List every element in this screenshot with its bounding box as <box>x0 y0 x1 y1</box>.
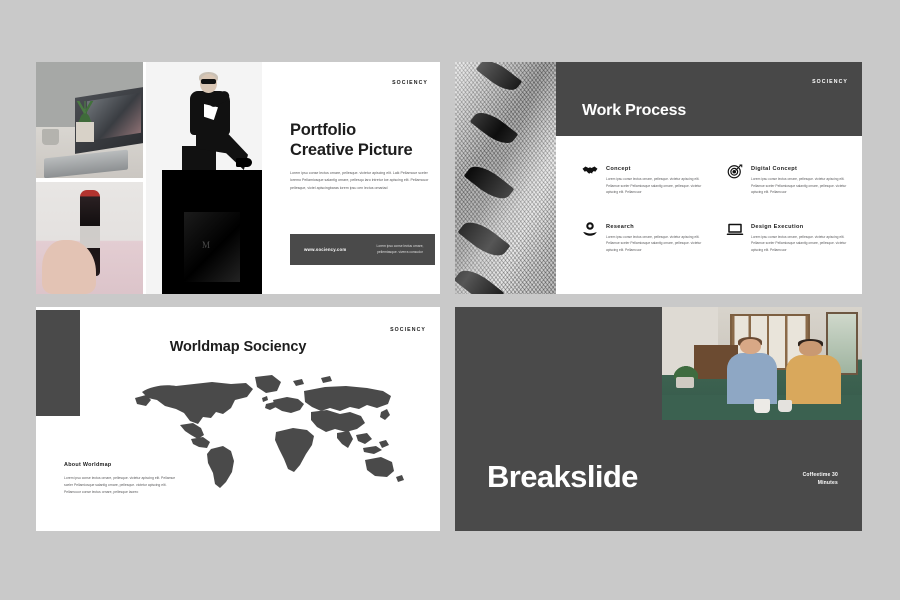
target-icon <box>725 162 745 180</box>
slide1-body-text: Lorem ipsu conse lectus ornare, pellesqu… <box>290 170 433 192</box>
photo-desk-laptop <box>36 62 143 178</box>
process-item-body: Lorem ipsu conse lectus ornare, pellesqu… <box>751 176 848 196</box>
process-item-label: Digital Concept <box>751 162 848 172</box>
slide4-title: Breakslide <box>487 459 638 495</box>
slide4-coffeetime-note: Coffeetime 30 Minutes <box>766 471 838 487</box>
slide1-content-panel: SOCIENCY Portfolio Creative Picture Lore… <box>266 62 440 294</box>
website-url[interactable]: www.sociency.com <box>304 247 346 252</box>
photo-two-men-coffee <box>662 307 862 420</box>
handshake-icon <box>580 162 600 180</box>
process-item-digital-concept[interactable]: Digital Concept Lorem ipsu conse lectus … <box>725 162 848 196</box>
photo-model-on-stool: M <box>146 62 262 294</box>
photo-metallic-texture <box>455 62 556 294</box>
about-worldmap-body: Lorem ipsu conse lectus ornare, pellesqu… <box>64 475 184 497</box>
world-map-graphic <box>128 369 408 491</box>
coffeetime-line1: Coffeetime 30 <box>766 471 838 479</box>
slide-work-process[interactable]: SOCIENCY Work Process Concept Lorem ipsu… <box>455 62 862 294</box>
slide1-title: Portfolio Creative Picture <box>290 120 440 160</box>
coffeetime-line2: Minutes <box>766 479 838 487</box>
website-bar-text: Lorem ipsu conse lectus ornare, pellemta… <box>372 243 428 255</box>
slide2-title: Work Process <box>582 102 686 120</box>
brand-logo: SOCIENCY <box>812 79 848 85</box>
slide1-website-bar[interactable]: www.sociency.com Lorem ipsu conse lectus… <box>290 234 435 265</box>
process-item-body: Lorem ipsu conse lectus ornare, pellesqu… <box>751 234 848 254</box>
slide-portfolio-creative-picture[interactable]: M SOCIENCY Portfolio Creative Picture Lo… <box>36 62 440 294</box>
process-item-research[interactable]: Research Lorem ipsu conse lectus ornare,… <box>580 220 703 254</box>
research-hand-icon <box>580 220 600 238</box>
brand-logo: SOCIENCY <box>392 80 428 86</box>
slide2-body: Concept Lorem ipsu conse lectus ornare, … <box>556 136 862 294</box>
slide-worldmap-sociency[interactable]: SOCIENCY Worldmap Sociency <box>36 307 440 531</box>
process-item-design-execution[interactable]: Design Execution Lorem ipsu conse lectus… <box>725 220 848 254</box>
presentation-preview-canvas: M SOCIENCY Portfolio Creative Picture Lo… <box>0 0 900 600</box>
slide1-title-line1: Portfolio <box>290 120 440 140</box>
work-process-grid: Concept Lorem ipsu conse lectus ornare, … <box>580 162 848 254</box>
process-item-label: Concept <box>606 162 703 172</box>
photo-hand-bottle <box>36 182 143 294</box>
process-item-label: Research <box>606 220 703 230</box>
laptop-icon <box>725 220 745 238</box>
photo-monogram: M <box>202 240 211 250</box>
process-item-concept[interactable]: Concept Lorem ipsu conse lectus ornare, … <box>580 162 703 196</box>
brand-logo: SOCIENCY <box>390 327 426 333</box>
process-item-body: Lorem ipsu conse lectus ornare, pellesqu… <box>606 234 703 254</box>
process-item-label: Design Execution <box>751 220 848 230</box>
slide1-title-line2: Creative Picture <box>290 140 440 160</box>
decorative-dark-rectangle <box>36 310 80 416</box>
slide2-header: SOCIENCY Work Process <box>556 62 862 136</box>
process-item-body: Lorem ipsu conse lectus ornare, pellesqu… <box>606 176 703 196</box>
slide3-title: Worldmap Sociency <box>36 339 440 355</box>
slide-breakslide[interactable]: Breakslide Coffeetime 30 Minutes <box>455 307 862 531</box>
about-worldmap-title: About Worldmap <box>64 462 112 468</box>
